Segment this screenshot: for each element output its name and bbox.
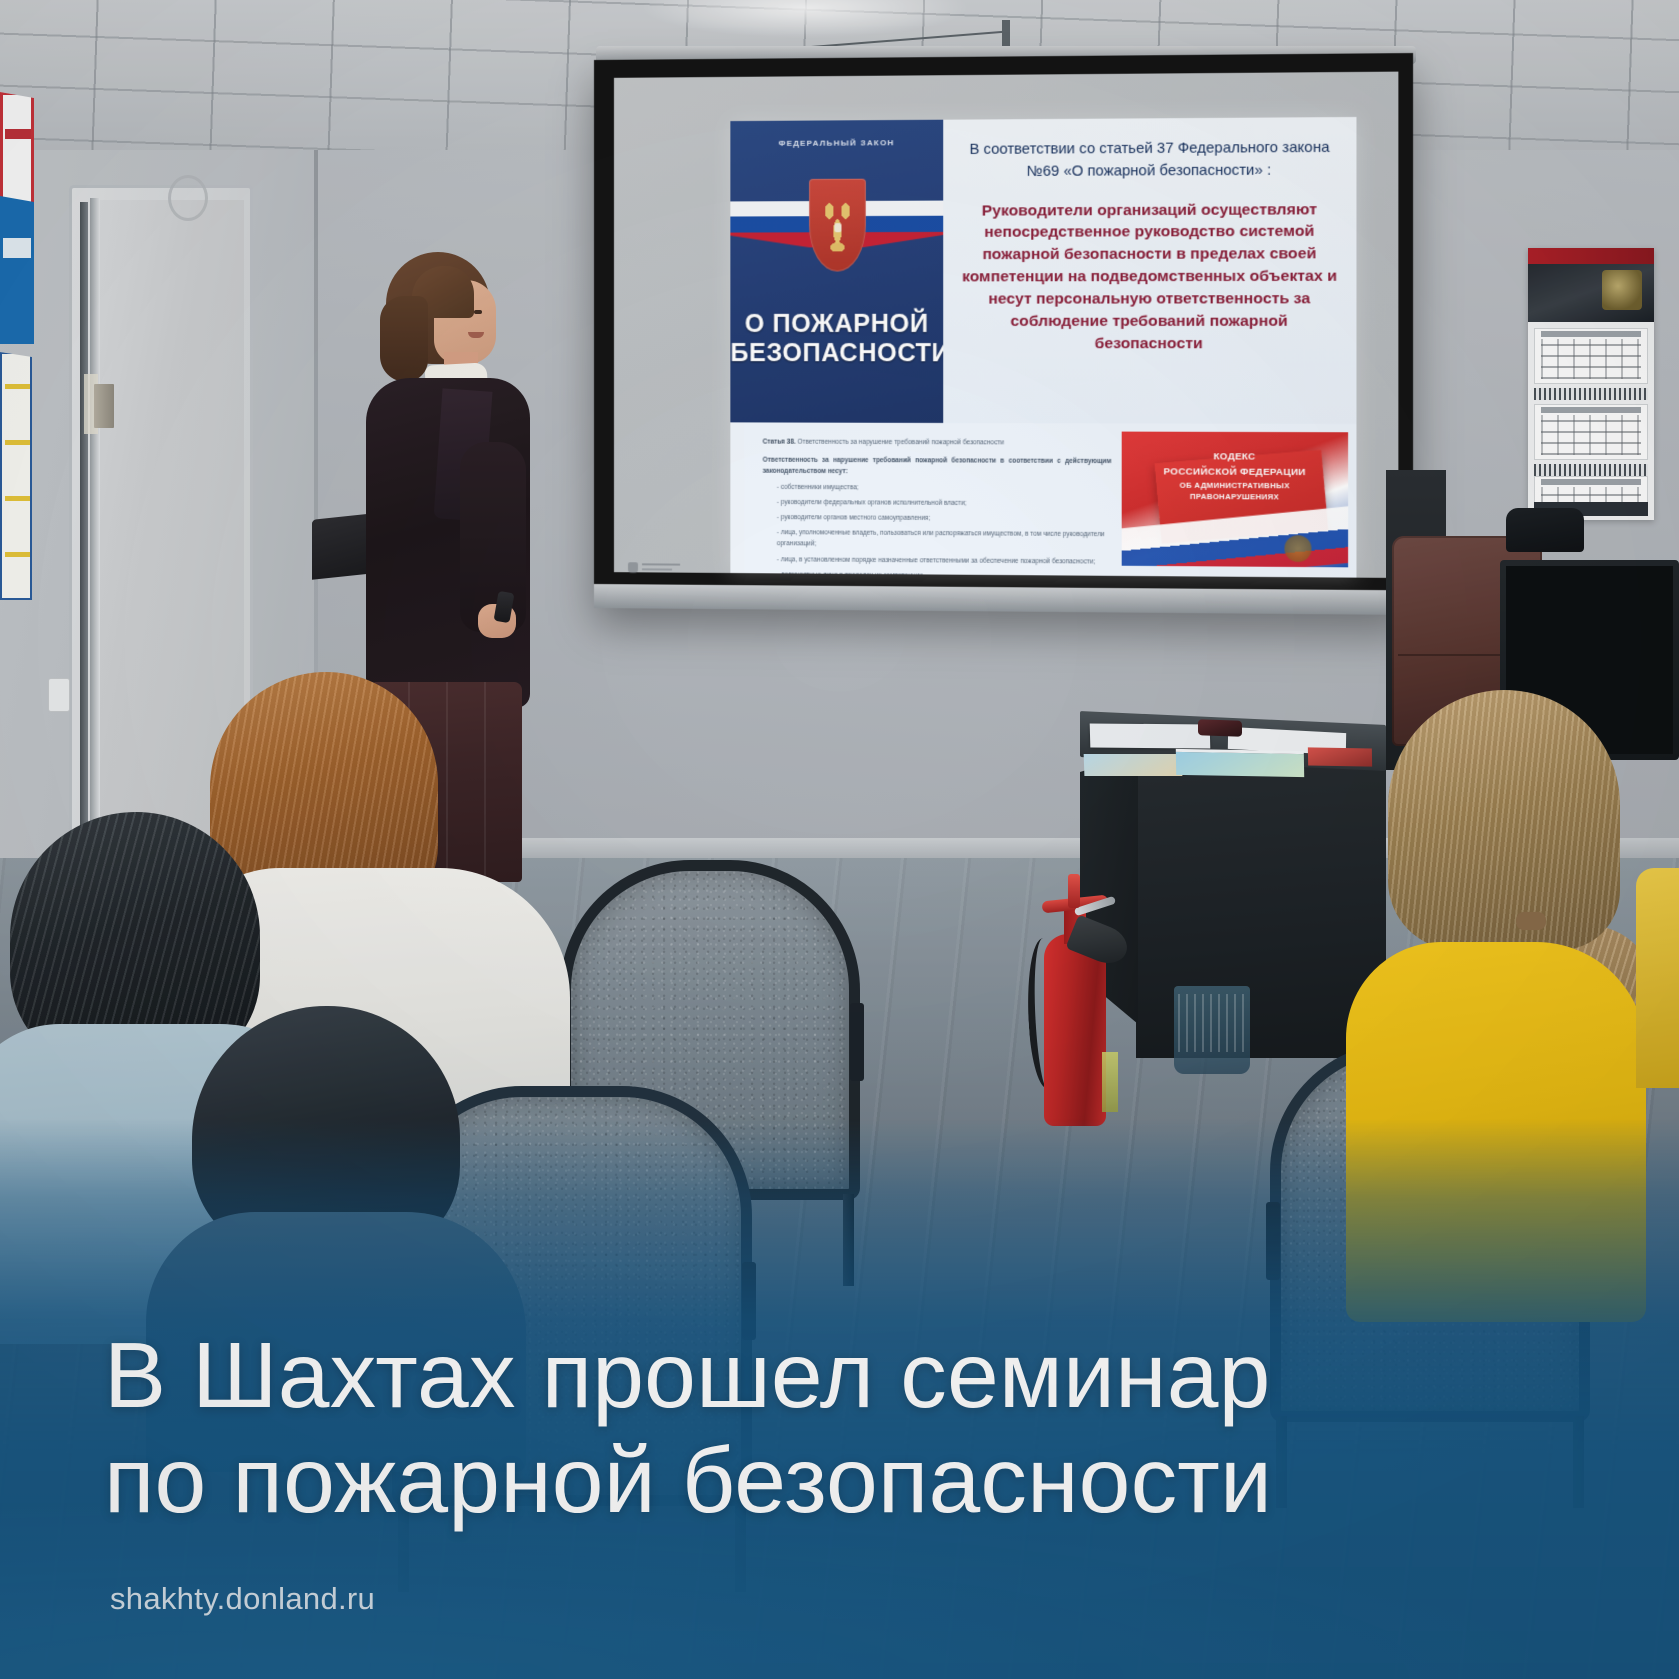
- law-article-title: Ответственность за нарушение требований …: [797, 439, 1004, 447]
- law-item: - лица, уполномоченные владеть, пользова…: [763, 527, 1112, 552]
- federal-law-kicker: ФЕДЕРАЛЬНЫЙ ЗАКОН: [730, 138, 943, 148]
- headline: В Шахтах прошел семинар по пожарной безо…: [104, 1323, 1524, 1533]
- russian-coat-of-arms-icon: [809, 179, 866, 272]
- headline-line-2: по пожарной безопасности: [104, 1428, 1524, 1533]
- code-emblem-icon: [1285, 535, 1312, 562]
- extinguisher-label: [1102, 1052, 1118, 1112]
- law-item: - должностные лица в пределах их компете…: [763, 569, 1112, 578]
- desk-folder: [1084, 754, 1183, 776]
- extinguisher-cylinder: [1044, 934, 1106, 1126]
- calendar-month-block: [1534, 328, 1648, 384]
- audience-torso: [1636, 868, 1679, 1088]
- chair-headrest: [1506, 508, 1584, 552]
- administrative-code-book: КОДЕКС РОССИЙСКОЙ ФЕДЕРАЦИИ ОБ АДМИНИСТР…: [1122, 432, 1348, 568]
- slide-main-text: Руководители организаций осуществляют не…: [960, 198, 1340, 355]
- calendar-emblem-icon: [1602, 270, 1642, 310]
- slide-lower-section: Статья 38. Ответственность за нарушение …: [744, 422, 1356, 577]
- wall-calendar: [1528, 248, 1654, 520]
- presenter-hair-side: [380, 296, 428, 382]
- law-excerpt-block: Статья 38. Ответственность за нарушение …: [744, 422, 1121, 575]
- calendar-tear-strip: [1534, 464, 1648, 476]
- book-title-line-1: О ПОЖАРНОЙ: [745, 310, 929, 338]
- site-url[interactable]: shakhty.donland.ru: [110, 1581, 375, 1617]
- projection-screen: ФЕДЕРАЛЬНЫЙ ЗАКОН О ПОЖАРНОЙ БЕЗОПАСНОСТ…: [594, 53, 1413, 615]
- book-title-line-2: БЕЗОПАСНОСТИ: [730, 339, 943, 367]
- wall-hook: [168, 175, 208, 221]
- audience-hair: [1388, 690, 1620, 950]
- slide-text-panel: В соответствии со статьей 37 Федеральног…: [943, 117, 1356, 424]
- extinguisher-safety-pin: [1068, 874, 1080, 908]
- information-board-white: [0, 352, 32, 600]
- law-item: - руководители федеральных органов испол…: [763, 497, 1112, 510]
- calendar-tear-strip: [1534, 388, 1648, 400]
- book-cover-title: О ПОЖАРНОЙ БЕЗОПАСНОСТИ: [730, 310, 943, 368]
- headline-line-1: В Шахтах прошел семинар: [104, 1323, 1271, 1427]
- law-item: - лица, в установленном порядке назначен…: [763, 554, 1112, 568]
- slide-intro-text: В соответствии со статьей 37 Федеральног…: [960, 138, 1340, 184]
- desk-papers: [1090, 723, 1211, 748]
- door-gap: [80, 202, 88, 860]
- code-title-line-4: ПРАВОНАРУШЕНИЯХ: [1122, 491, 1348, 504]
- audience-member: [1636, 868, 1679, 1088]
- calendar-month-block: [1534, 404, 1648, 460]
- news-photo-card: ФЕДЕРАЛЬНЫЙ ЗАКОН О ПОЖАРНОЙ БЕЗОПАСНОСТ…: [0, 0, 1679, 1679]
- screen-brand-logo-icon: [628, 562, 682, 574]
- door-jamb: [90, 198, 100, 860]
- smartphone[interactable]: [1198, 719, 1242, 737]
- projection-surface: ФЕДЕРАЛЬНЫЙ ЗАКОН О ПОЖАРНОЙ БЕЗОПАСНОСТ…: [614, 72, 1398, 578]
- code-book-title: КОДЕКС РОССИЙСКОЙ ФЕДЕРАЦИИ ОБ АДМИНИСТР…: [1122, 450, 1348, 503]
- information-board-blue: [0, 196, 34, 344]
- light-switch[interactable]: [48, 678, 70, 712]
- code-title-line-2: РОССИЙСКОЙ ФЕДЕРАЦИИ: [1122, 465, 1348, 480]
- law-item: - собственники имущества;: [763, 481, 1112, 494]
- federal-law-book-cover: ФЕДЕРАЛЬНЫЙ ЗАКОН О ПОЖАРНОЙ БЕЗОПАСНОСТ…: [730, 120, 943, 423]
- fire-extinguisher: [1022, 872, 1142, 1126]
- hair-tie: [1516, 912, 1546, 930]
- law-article-heading: Статья 38.: [763, 439, 796, 446]
- law-item: - руководители органов местного самоупра…: [763, 512, 1112, 525]
- door-hinge: [94, 384, 114, 428]
- law-paragraph: Ответственность за нарушение требований …: [763, 455, 1112, 479]
- presentation-slide: ФЕДЕРАЛЬНЫЙ ЗАКОН О ПОЖАРНОЙ БЕЗОПАСНОСТ…: [730, 117, 1356, 578]
- waste-bin: [1174, 986, 1250, 1074]
- calendar-header-image: [1528, 248, 1654, 322]
- slide-upper-section: ФЕДЕРАЛЬНЫЙ ЗАКОН О ПОЖАРНОЙ БЕЗОПАСНОСТ…: [730, 117, 1356, 424]
- code-title-line-1: КОДЕКС: [1122, 450, 1348, 465]
